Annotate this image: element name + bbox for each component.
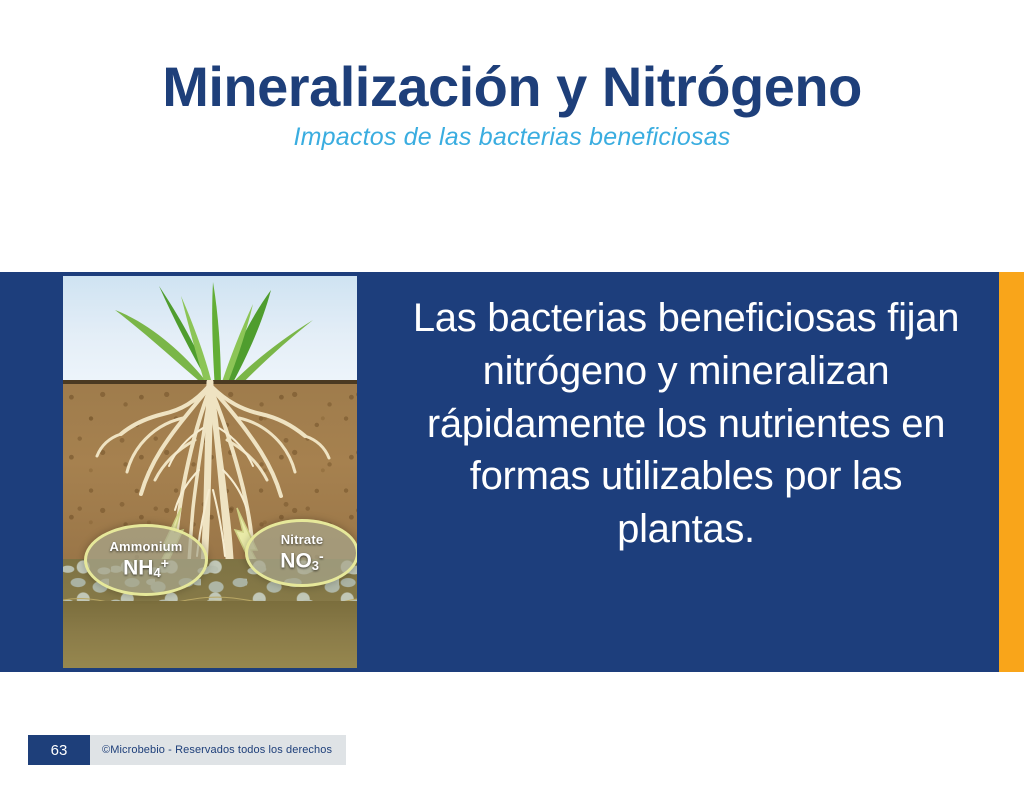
copyright-notice: ©Microbebio - Reservados todos los derec… [90, 735, 346, 765]
formula-subscript: 4 [153, 566, 160, 581]
callout-ammonium-label: Ammonium [109, 540, 182, 553]
callout-nitrate: Nitrate NO3- [245, 519, 357, 587]
formula-superscript: + [161, 555, 169, 571]
page-subtitle: Impactos de las bacterias beneficiosas [0, 123, 1024, 152]
subsoil-layer [63, 601, 357, 668]
page-title: Mineralización y Nitrógeno [0, 58, 1024, 117]
slide-canvas: Mineralización y Nitrógeno Impactos de l… [0, 0, 1024, 791]
accent-bar-orange [999, 272, 1024, 672]
callout-ammonium-formula: NH4+ [123, 556, 169, 579]
formula-main: NO [280, 550, 312, 573]
nitrogen-cycle-illustration: Ammonium NH4+ Nitrate NO3- [63, 276, 357, 668]
formula-main: NH [123, 557, 153, 580]
callout-nitrate-formula: NO3- [280, 549, 323, 572]
callout-ammonium: Ammonium NH4+ [84, 524, 208, 596]
page-number: 63 [28, 735, 90, 765]
grass-blades-icon [63, 276, 357, 391]
title-block: Mineralización y Nitrógeno Impactos de l… [0, 58, 1024, 152]
formula-subscript: 3 [312, 559, 319, 574]
callout-nitrate-label: Nitrate [281, 533, 324, 546]
formula-superscript: - [319, 548, 324, 564]
slide-footer: 63 ©Microbebio - Reservados todos los de… [28, 735, 346, 765]
body-text: Las bacterias beneficiosas fijan nitróge… [396, 292, 976, 556]
